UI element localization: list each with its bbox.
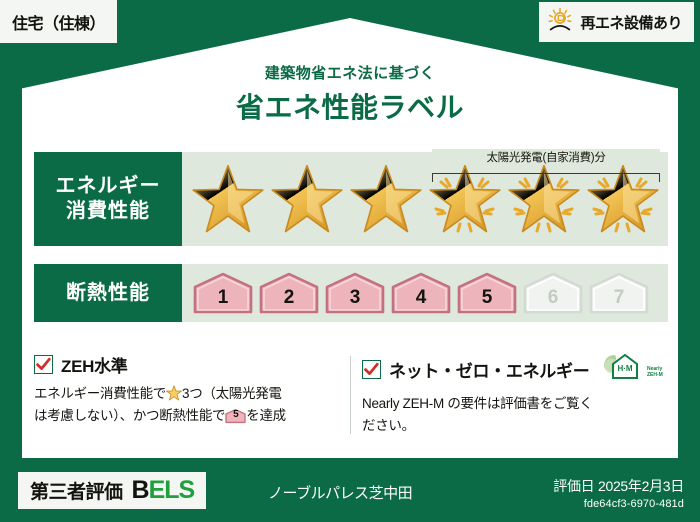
energy-saving-performance-label: 住宅（住棟） 再エネ設備あり 建築物省エネ法に基づく — [0, 0, 700, 522]
insulation-level-1-value: 1 — [218, 287, 229, 315]
zeh-standard-heading: ZEH水準 — [34, 352, 344, 377]
bels-logo-els: ELS — [149, 476, 195, 504]
insulation-level-1: 1 — [192, 271, 254, 315]
net-zero-energy-title: ネット・ゼロ・エネルギー — [389, 357, 589, 382]
insulation-level-2-value: 2 — [284, 287, 295, 315]
insulation-level-6: 6 — [522, 271, 584, 315]
insulation-level-6-value: 6 — [548, 287, 559, 315]
zeh-desc-star-count: 3つ（太陽光発電 — [182, 386, 282, 401]
insulation-label-text: 断熱性能 — [66, 281, 150, 306]
info-divider — [350, 356, 351, 434]
insulation-level-4: 4 — [390, 271, 452, 315]
insulation-level-7: 7 — [588, 271, 650, 315]
check-icon — [362, 360, 381, 379]
building-name: ノーブルパレス芝中田 — [268, 482, 412, 503]
insulation-performance-row: 断熱性能 1 2 — [34, 264, 668, 322]
insulation-level-2: 2 — [258, 271, 320, 315]
insulation-level-scale: 1 2 3 — [182, 264, 668, 322]
zeh-desc-part1: エネルギー消費性能で — [34, 386, 166, 401]
net-zero-energy-block: ネット・ゼロ・エネルギー H·M Nearly ZEH-M Nea — [362, 352, 668, 438]
third-party-evaluation-label: 第三者評価 — [30, 477, 123, 504]
zeh-desc-part2: は考慮しない）、かつ断熱性能で — [34, 408, 225, 423]
inline-house-badge-value: 5 — [225, 408, 246, 424]
renewable-badge-label: 再エネ設備あり — [580, 12, 682, 33]
inline-star-icon — [166, 385, 182, 401]
bels-plate: 第三者評価 BELS — [18, 472, 206, 509]
check-icon — [34, 355, 53, 374]
subtitle: 建築物省エネ法に基づく — [0, 62, 700, 83]
star-3 — [346, 159, 425, 239]
zeh-desc-part3: を達成 — [246, 408, 286, 423]
insulation-level-4-value: 4 — [416, 287, 427, 315]
bels-logo: BELS — [132, 476, 195, 505]
insulation-level-7-value: 7 — [614, 287, 625, 315]
star-2 — [267, 159, 346, 239]
insulation-level-5: 5 — [456, 271, 518, 315]
inline-house-badge-icon: 5 — [225, 408, 246, 424]
title-block: 建築物省エネ法に基づく 省エネ性能ラベル — [0, 62, 700, 126]
zeh-standard-title: ZEH水準 — [61, 352, 128, 377]
insulation-row-label: 断熱性能 — [34, 264, 182, 322]
insulation-row-body: 1 2 3 — [182, 264, 668, 322]
zeh-standard-block: ZEH水準 エネルギー消費性能で3つ（太陽光発電 は考慮しない）、かつ断熱性能で… — [34, 352, 344, 428]
energy-consumption-row-label: エネルギー 消費性能 — [34, 152, 182, 246]
category-tag: 住宅（住棟） — [0, 0, 117, 43]
sun-icon — [547, 7, 573, 38]
svg-text:H·M: H·M — [618, 364, 633, 373]
insulation-level-3: 3 — [324, 271, 386, 315]
insulation-level-3-value: 3 — [350, 287, 361, 315]
energy-label-line1: エネルギー — [56, 174, 161, 199]
energy-label-line2: 消費性能 — [66, 199, 150, 224]
solar-bracket-label: 太陽光発電(自家消費)分 — [432, 149, 660, 165]
star-1 — [188, 159, 267, 239]
net-zero-energy-description: Nearly ZEH-M の要件は評価書をご覧く ださい。 — [362, 393, 668, 438]
evaluation-date: 評価日 2025年2月3日 — [553, 476, 684, 496]
insulation-level-5-value: 5 — [482, 287, 493, 315]
category-tag-label: 住宅（住棟） — [12, 10, 105, 34]
page-title: 省エネ性能ラベル — [0, 86, 700, 126]
evaluation-info: 評価日 2025年2月3日 fde64cf3-6970-481d — [553, 476, 684, 510]
solar-contribution-bracket: 太陽光発電(自家消費)分 — [432, 150, 660, 182]
bels-logo-b: B — [132, 476, 149, 504]
net-zero-energy-heading: ネット・ゼロ・エネルギー H·M Nearly ZEH-M — [362, 352, 668, 387]
renewable-equipment-badge: 再エネ設備あり — [539, 2, 694, 42]
bracket-line — [432, 173, 660, 182]
svg-text:ZEH-M: ZEH-M — [647, 372, 663, 378]
zeh-m-logo-icon: H·M Nearly ZEH-M — [601, 352, 663, 387]
evaluation-id: fde64cf3-6970-481d — [553, 498, 684, 510]
zeh-standard-description: エネルギー消費性能で3つ（太陽光発電 は考慮しない）、かつ断熱性能で5を達成 — [34, 383, 344, 428]
